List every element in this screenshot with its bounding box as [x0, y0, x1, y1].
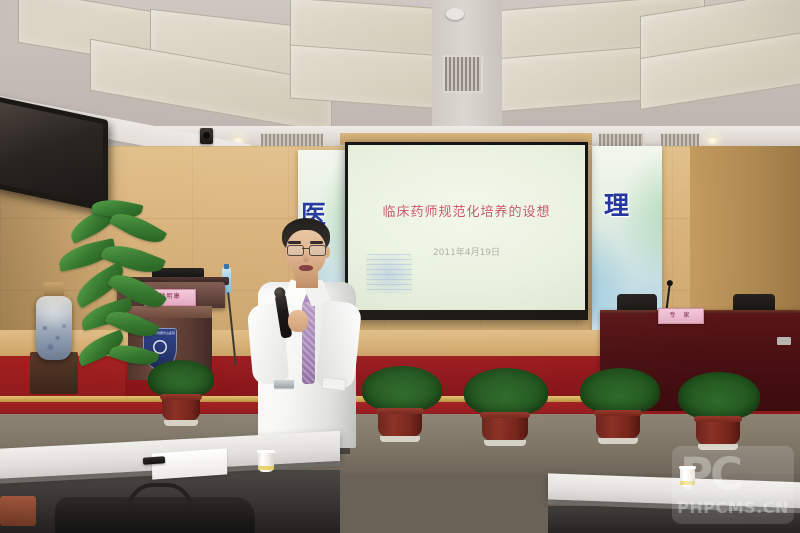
screen-bottom-bar [345, 310, 588, 320]
pot-base [598, 438, 638, 444]
eyeglasses-lens [309, 245, 326, 256]
presenter-mouth [299, 265, 313, 271]
presenter-shirt-cuff [321, 377, 346, 391]
plant-foliage [580, 368, 660, 414]
potted-plant [676, 372, 762, 446]
pot-rim [694, 416, 742, 422]
banner-right-character: 理 [604, 186, 629, 222]
plant-foliage [148, 360, 214, 398]
downlight-icon [706, 136, 719, 145]
plant-pot [696, 416, 740, 446]
plant-pot [596, 410, 640, 440]
pot-base [484, 440, 525, 446]
presenter-name-badge [274, 380, 294, 388]
photograph-scene: 医 理 临床药师规范化培养的设想 2011年4月19日 专 家 钟明康 复旦大学… [0, 0, 800, 533]
pot-rim [594, 410, 642, 416]
ceiling-air-vent [443, 55, 483, 93]
plant-foliage [362, 366, 442, 412]
potted-plant [462, 368, 550, 442]
pot-base [164, 420, 198, 426]
projected-slide: 临床药师规范化培养的设想 2011年4月19日 [348, 145, 585, 310]
wall-speaker-icon [200, 128, 213, 144]
plant-pot [378, 408, 422, 438]
monitor-screen [0, 102, 103, 206]
presenter-hand [288, 310, 308, 332]
projection-screen: 临床药师规范化培养的设想 2011年4月19日 [345, 142, 588, 320]
pot-base [698, 444, 738, 450]
large-potted-plant [58, 196, 176, 376]
head-table-placard-text: 专 家 [659, 309, 703, 322]
presenter [248, 218, 366, 448]
plant-pot [482, 412, 528, 442]
pot-rim [376, 408, 424, 414]
plant-foliage [464, 368, 548, 416]
head-table-name-placard: 专 家 [658, 308, 704, 324]
laptop-bag [55, 497, 255, 533]
pot-rim [160, 394, 202, 400]
printed-handout [152, 448, 227, 479]
plant-pot [162, 394, 200, 422]
smoke-detector-icon [446, 8, 464, 20]
presenter-nose [303, 254, 309, 262]
potted-plant [146, 360, 216, 422]
presenter-eyebrow [310, 241, 323, 244]
presenter-eyebrow [288, 241, 301, 244]
slide-logo-watermark-icon [366, 254, 412, 294]
cup-band [258, 466, 274, 470]
presenter-necktie [302, 294, 315, 384]
plant-foliage [678, 372, 760, 420]
pot-rim [480, 412, 530, 418]
eyeglasses-lens [287, 245, 304, 256]
cup-band [680, 481, 695, 485]
paper-cup [258, 450, 274, 472]
paper-cup [680, 466, 695, 487]
potted-plant [360, 366, 444, 438]
potted-plant [578, 368, 662, 440]
wood-panel-wall-right [690, 146, 800, 316]
pot-base [380, 436, 420, 442]
eyeglasses-bridge [302, 248, 309, 249]
table-device [777, 337, 791, 345]
slide-title: 临床药师规范化培养的设想 [348, 201, 585, 220]
audience-chair [0, 496, 36, 526]
